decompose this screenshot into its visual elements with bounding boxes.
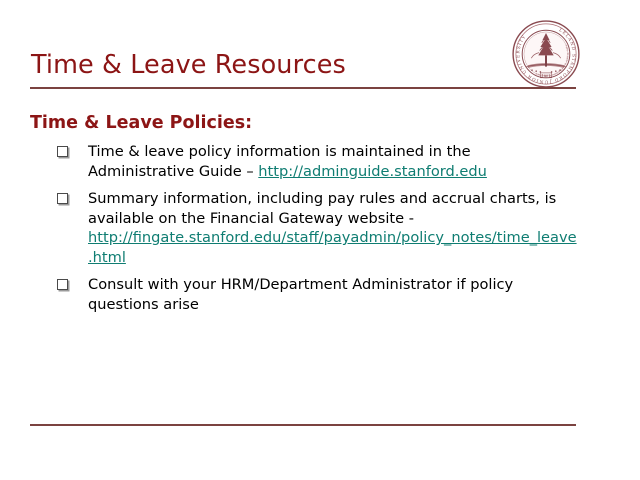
seal-year: 1891 bbox=[542, 74, 551, 78]
title-divider bbox=[30, 87, 576, 89]
fingate-policy-notes-link[interactable]: http://fingate.stanford.edu/staff/payadm… bbox=[88, 229, 577, 266]
list-item-body: Summary information, including pay rules… bbox=[88, 190, 556, 227]
list-item-text: Consult with your HRM/Department Adminis… bbox=[88, 275, 577, 314]
hollow-square-bullet-icon bbox=[57, 193, 68, 204]
list-item-text: Summary information, including pay rules… bbox=[88, 189, 577, 267]
list-item: Consult with your HRM/Department Adminis… bbox=[57, 275, 577, 314]
hollow-square-bullet-icon bbox=[57, 146, 68, 157]
list-item-text: Time & leave policy information is maint… bbox=[88, 142, 577, 181]
page-title: Time & Leave Resources bbox=[31, 50, 346, 80]
slide-canvas: LELAND STANFORD JUNIOR UNIVERSITY THE WI… bbox=[0, 0, 640, 480]
list-item: Summary information, including pay rules… bbox=[57, 189, 577, 267]
list-item-body: Consult with your HRM/Department Adminis… bbox=[88, 276, 513, 313]
hollow-square-bullet-icon bbox=[57, 279, 68, 290]
bullet-list: Time & leave policy information is maint… bbox=[57, 142, 577, 322]
adminguide-link[interactable]: http://adminguide.stanford.edu bbox=[258, 163, 487, 180]
section-subtitle: Time & Leave Policies: bbox=[30, 112, 252, 134]
stanford-seal-icon: LELAND STANFORD JUNIOR UNIVERSITY THE WI… bbox=[511, 19, 581, 89]
footer-divider bbox=[30, 424, 576, 426]
list-item: Time & leave policy information is maint… bbox=[57, 142, 577, 181]
